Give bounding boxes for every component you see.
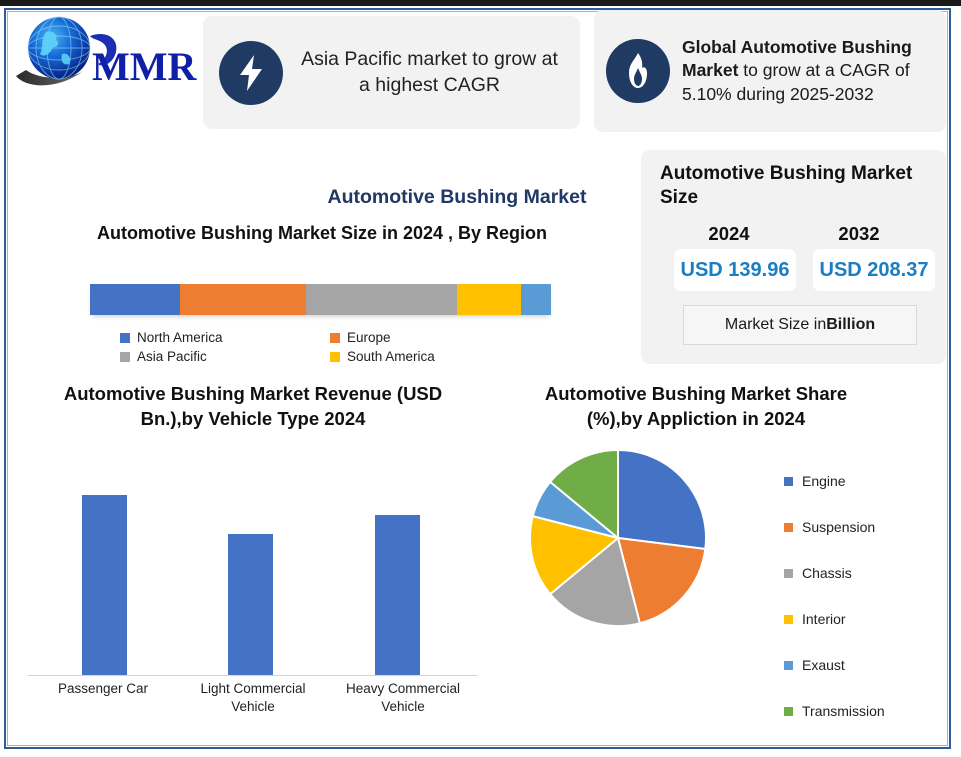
flame-icon [606,39,670,103]
logo-wordmark: MMR [92,44,198,89]
legend-swatch-icon [784,523,793,532]
page-title: Automotive Bushing Market [222,186,692,209]
pie-legend-item: Interior [784,596,934,642]
vehicle-axis-label: Light Commercial Vehicle [178,680,328,716]
legend-swatch-icon [120,352,130,362]
mmr-globe-logo: MMR [14,14,199,92]
region-legend-label: Europe [347,330,391,345]
market-size-unit-note: Market Size in Billion [683,305,917,345]
region-segment-europe [180,284,306,315]
pie-legend-label: Suspension [802,519,875,535]
pie-legend-label: Interior [802,611,846,627]
infographic-page: MMR Asia Pacific market to grow at a hig… [0,0,961,757]
legend-swatch-icon [330,333,340,343]
callout-global-market: Global Automotive Bushing Market to grow… [594,10,946,132]
market-size-panel: Automotive Bushing Market Size 2024 2032… [641,150,946,364]
market-size-unit-prefix: Market Size in [725,316,826,334]
callout-global-market-text: Global Automotive Bushing Market to grow… [682,36,946,106]
pie-legend-item: Chassis [784,550,934,596]
vehicle-axis-label: Heavy Commercial Vehicle [328,680,478,716]
region-segment-north-america [90,284,180,315]
region-share-chart: Automotive Bushing Market Size in 2024 ,… [22,222,622,368]
vehicle-axis-label: Passenger Car [28,680,178,716]
legend-swatch-icon [330,352,340,362]
pie-legend-label: Chassis [802,565,852,581]
lightning-bolt-icon [219,41,283,105]
top-band [0,0,961,6]
pie-legend-label: Exaust [802,657,845,673]
legend-swatch-icon [120,333,130,343]
pie-chart-legend: EngineSuspensionChassisInteriorExaustTra… [784,458,934,734]
pie-slice-engine [618,450,706,549]
legend-swatch-icon [784,477,793,486]
legend-swatch-icon [784,615,793,624]
region-segment-middle-east-and-africa [521,284,551,315]
pie-legend-item: Suspension [784,504,934,550]
region-chart-legend: North AmericaEuropeAsia PacificSouth Ame… [120,330,540,368]
region-legend-label: North America [137,330,223,345]
vehicle-bar-heavy-commercial-vehicle [375,515,420,675]
pie-legend-item: Engine [784,458,934,504]
vehicle-chart-axis-labels: Passenger CarLight Commercial VehicleHea… [28,680,478,716]
region-stacked-bar [90,284,551,315]
vehicle-bar-passenger-car [82,495,127,675]
region-segment-asia-pacific [306,284,457,315]
region-legend-item: North America [120,330,330,345]
region-legend-label: South America [347,349,435,364]
vehicle-chart-title: Automotive Bushing Market Revenue (USD B… [38,382,468,432]
application-share-chart: Automotive Bushing Market Share (%),by A… [492,382,947,732]
vehicle-chart-plot [28,482,478,676]
region-legend-item: Asia Pacific [120,349,330,364]
vehicle-bar-light-commercial-vehicle [228,534,273,675]
region-segment-south-america [457,284,521,315]
market-size-year-end: 2032 [804,223,914,245]
region-legend-item: South America [330,349,540,364]
vehicle-type-revenue-chart: Automotive Bushing Market Revenue (USD B… [18,382,488,732]
market-size-value-start: USD 139.96 [674,249,796,291]
pie-graphic [528,448,708,628]
callout-asia-pacific-text: Asia Pacific market to grow at a highest… [293,47,580,98]
region-chart-title: Automotive Bushing Market Size in 2024 ,… [62,222,582,245]
pie-legend-label: Transmission [802,703,885,719]
market-size-value-end: USD 208.37 [813,249,935,291]
region-legend-label: Asia Pacific [137,349,207,364]
legend-swatch-icon [784,707,793,716]
region-legend-item: Europe [330,330,540,345]
pie-legend-item: Transmission [784,688,934,734]
legend-swatch-icon [784,661,793,670]
pie-legend-item: Exaust [784,642,934,688]
market-size-unit-bold: Billion [826,316,875,334]
pie-legend-label: Engine [802,473,846,489]
callout-asia-pacific: Asia Pacific market to grow at a highest… [203,16,580,129]
market-size-year-start: 2024 [674,223,784,245]
market-size-title: Automotive Bushing Market Size [660,162,935,210]
pie-chart-title: Automotive Bushing Market Share (%),by A… [516,382,876,432]
legend-swatch-icon [784,569,793,578]
